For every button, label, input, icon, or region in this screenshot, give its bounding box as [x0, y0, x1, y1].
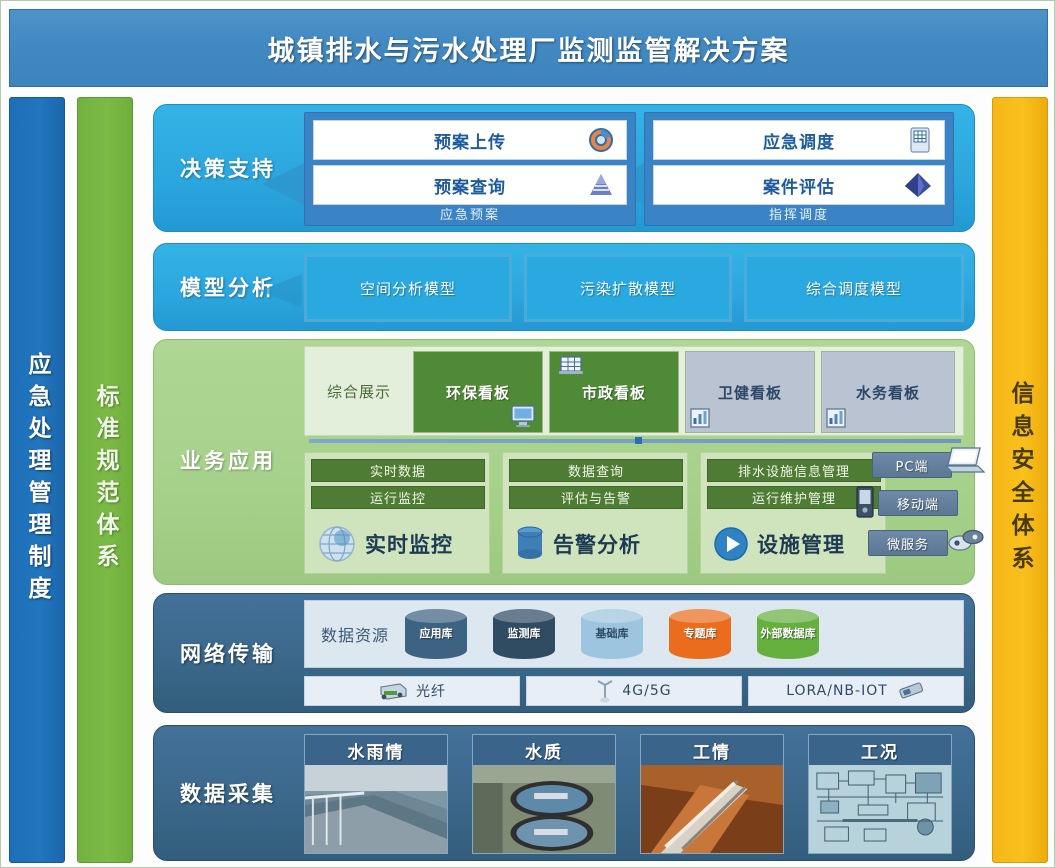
model-box-dispatch[interactable]: 综合调度模型	[744, 254, 964, 322]
database-monitoring[interactable]: 监测库	[493, 609, 555, 659]
scada-schematic-photo	[809, 765, 951, 853]
fiber-icon	[378, 681, 408, 701]
decision-item-case-assessment[interactable]: 案件评估	[653, 165, 945, 205]
database-label: 应用库	[420, 628, 453, 641]
device-badge-pc[interactable]: PC端	[872, 452, 952, 478]
diagram-canvas: 城镇排水与污水处理厂监测监管解决方案 应急处理管理制度 标准规范体系 信息安全体…	[0, 0, 1055, 868]
collection-card-conditions[interactable]: 工况	[808, 734, 952, 854]
database-label: 外部数据库	[761, 628, 816, 641]
play-icon	[711, 524, 751, 564]
tab-environment-dashboard[interactable]: 环保看板	[413, 351, 543, 433]
section-model-analysis: 模型分析 空间分析模型 污染扩散模型 综合调度模型	[153, 243, 975, 331]
transmission-fiber[interactable]: 光纤	[304, 676, 520, 706]
decision-group-caption: 指挥调度	[645, 204, 953, 223]
device-badge-label: 微服务	[887, 534, 929, 553]
tab-health-dashboard[interactable]: 卫健看板	[685, 351, 815, 433]
database-basic[interactable]: 基础库	[581, 609, 643, 659]
business-main-realtime-monitoring[interactable]: 实时监控	[305, 515, 489, 573]
decision-item-emergency-dispatch[interactable]: 应急调度	[653, 120, 945, 160]
mobile-icon	[854, 486, 876, 518]
business-button-operation-monitor[interactable]: 运行监控	[311, 486, 485, 509]
device-badge-microservice[interactable]: 微服务	[868, 530, 948, 556]
business-main-label: 实时监控	[365, 529, 453, 559]
business-button-drainage-facility-info[interactable]: 排水设施信息管理	[707, 459, 881, 482]
database-application[interactable]: 应用库	[405, 609, 467, 659]
tabs-underline	[309, 439, 961, 443]
collection-card-rainfall[interactable]: 水雨情	[304, 734, 448, 854]
pipeline-trench-photo	[641, 765, 783, 853]
device-badge-label: PC端	[896, 456, 929, 475]
transmission-label: 光纤	[416, 681, 446, 701]
database-thematic[interactable]: 专题库	[669, 609, 731, 659]
device-badge-label: 移动端	[897, 494, 939, 513]
collection-card-label: 工情	[641, 735, 783, 765]
business-button-data-query[interactable]: 数据查询	[509, 459, 683, 482]
database-label: 监测库	[508, 628, 541, 641]
data-resources-card: 数据资源 应用库 监测库 基础库 专题库 外部数据库	[304, 600, 964, 668]
decision-item-label: 案件评估	[763, 173, 835, 198]
antenna-icon	[596, 679, 614, 703]
tab-label: 水务看板	[856, 382, 920, 403]
transmission-cellular[interactable]: 4G/5G	[526, 676, 742, 706]
grid-device-icon	[908, 127, 932, 153]
tab-label: 卫健看板	[718, 382, 782, 403]
data-resources-label: 数据资源	[305, 622, 405, 646]
collection-card-label: 水雨情	[305, 735, 447, 765]
collection-card-label: 工况	[809, 735, 951, 765]
tab-water-dashboard[interactable]: 水务看板	[821, 351, 955, 433]
business-button-assessment-alarm[interactable]: 评估与告警	[509, 486, 683, 509]
service-icon	[946, 526, 986, 556]
lifebuoy-icon	[588, 127, 614, 153]
model-box-spatial[interactable]: 空间分析模型	[304, 254, 512, 322]
pyramid-icon	[588, 173, 614, 197]
monitor-icon	[510, 404, 536, 428]
business-main-label: 告警分析	[553, 529, 641, 559]
building-icon	[558, 354, 584, 376]
transmission-label: LORA/NB-IOT	[786, 683, 888, 699]
diamond-icon	[904, 172, 932, 198]
database-icon	[513, 523, 547, 565]
decision-group-caption: 应急预案	[305, 204, 635, 223]
transmission-lora[interactable]: LORA/NB-IOT	[748, 676, 964, 706]
laptop-icon	[944, 445, 986, 477]
sedimentation-tanks-photo	[473, 765, 615, 853]
dashboard-tabs-card: 综合展示 环保看板 市政看板	[304, 346, 964, 436]
database-label: 专题库	[684, 628, 717, 641]
section-label-business-application: 业务应用	[154, 400, 302, 520]
tab-label: 市政看板	[582, 382, 646, 403]
tab-municipal-dashboard[interactable]: 市政看板	[549, 351, 679, 433]
collection-card-water-quality[interactable]: 水质	[472, 734, 616, 854]
business-button-realtime-data[interactable]: 实时数据	[311, 459, 485, 482]
collection-card-label: 水质	[473, 735, 615, 765]
transmission-row: 光纤 4G/5G LORA/NB-IOT	[304, 676, 964, 706]
page-title: 城镇排水与污水处理厂监测监管解决方案	[268, 29, 790, 68]
rail-standard-specification: 标准规范体系	[77, 97, 133, 863]
tabs-underline-marker	[635, 437, 642, 444]
decision-item-label: 预案查询	[434, 173, 506, 198]
section-data-collection: 数据采集 水雨情 水质	[153, 725, 975, 861]
section-label-network-transmission: 网络传输	[154, 594, 302, 712]
device-badge-mobile[interactable]: 移动端	[878, 490, 958, 516]
decision-group-command-dispatch: 应急调度 案件评估	[644, 112, 954, 226]
chart-icon	[690, 408, 710, 428]
dashboard-tabs-label: 综合展示	[313, 347, 405, 435]
database-label: 基础库	[596, 628, 629, 641]
collection-card-works[interactable]: 工情	[640, 734, 784, 854]
decision-group-emergency-plan: 预案上传 预案查询	[304, 112, 636, 226]
section-label-decision-support: 决策支持	[154, 105, 302, 231]
globe-icon	[315, 522, 359, 566]
tab-label: 环保看板	[446, 382, 510, 403]
river-channel-photo	[305, 765, 447, 853]
decision-item-label: 预案上传	[434, 128, 506, 153]
business-main-alarm-analysis[interactable]: 告警分析	[503, 515, 687, 573]
sensor-icon	[896, 680, 926, 702]
database-external[interactable]: 外部数据库	[757, 609, 819, 659]
business-main-facility-management[interactable]: 设施管理	[701, 515, 885, 573]
rail-emergency-management: 应急处理管理制度	[9, 97, 65, 863]
section-network-transmission: 网络传输 数据资源 应用库 监测库 基础库 专题库 外部数据库	[153, 593, 975, 713]
business-main-label: 设施管理	[757, 529, 845, 559]
section-business-application: 业务应用 综合展示 环保看板 市政看板	[153, 339, 975, 585]
transmission-label: 4G/5G	[622, 683, 671, 699]
diagram-title-bar: 城镇排水与污水处理厂监测监管解决方案	[9, 9, 1048, 87]
decision-item-label: 应急调度	[763, 128, 835, 153]
chart-icon	[826, 408, 846, 428]
business-column-alarm: 数据查询 评估与告警 告警分析	[502, 452, 688, 574]
business-column-monitoring: 实时数据 运行监控 实时监控	[304, 452, 490, 574]
decision-item-plan-upload[interactable]: 预案上传	[313, 120, 627, 160]
model-box-pollution[interactable]: 污染扩散模型	[524, 254, 732, 322]
section-label-data-collection: 数据采集	[154, 726, 302, 860]
decision-item-plan-query[interactable]: 预案查询	[313, 165, 627, 205]
section-decision-support: 决策支持 预案上传 预案查询	[153, 104, 975, 232]
rail-information-security: 信息安全体系	[992, 97, 1048, 863]
